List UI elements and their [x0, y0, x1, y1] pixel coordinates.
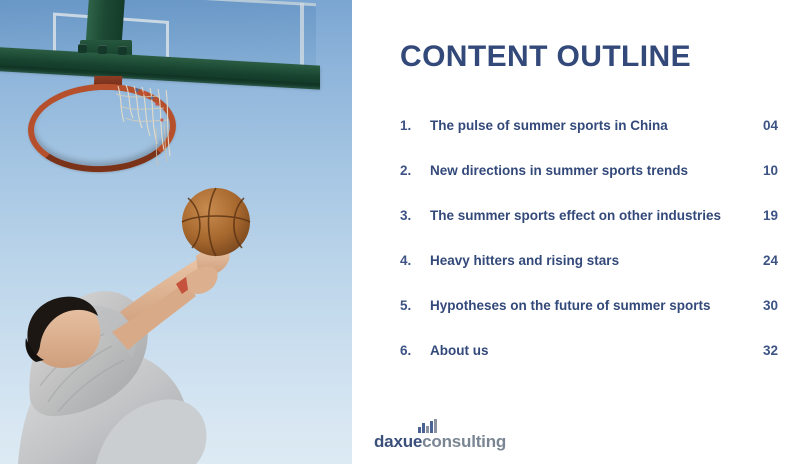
toc-item-page: 32 [748, 343, 778, 358]
toc-item[interactable]: 3. The summer sports effect on other ind… [400, 208, 778, 253]
mount-bolt [78, 44, 87, 53]
toc-item-label: The pulse of summer sports in China [430, 118, 748, 133]
toc-item-label: Heavy hitters and rising stars [430, 253, 748, 268]
bar-chart-bar [434, 419, 437, 433]
torn-net [112, 84, 184, 170]
page-title: CONTENT OUTLINE [400, 40, 691, 74]
toc-item[interactable]: 2. New directions in summer sports trend… [400, 163, 778, 208]
logo-primary-text: daxue [374, 432, 422, 452]
logo-secondary-text: consulting [422, 432, 506, 452]
content-panel: CONTENT OUTLINE 1. The pulse of summer s… [352, 0, 800, 464]
toc-item[interactable]: 6. About us 32 [400, 343, 778, 388]
toc-item-number: 5. [400, 298, 430, 313]
toc-item-page: 30 [748, 298, 778, 313]
toc-item-number: 3. [400, 208, 430, 223]
toc-item-number: 6. [400, 343, 430, 358]
basketball-player [0, 164, 290, 464]
toc-item-number: 2. [400, 163, 430, 178]
toc-item[interactable]: 1. The pulse of summer sports in China 0… [400, 118, 778, 163]
toc-item-label: New directions in summer sports trends [430, 163, 748, 178]
toc-item-page: 24 [748, 253, 778, 268]
bar-chart-bar [426, 426, 429, 433]
bar-chart-bar [422, 423, 425, 433]
bar-chart-icon [418, 419, 437, 433]
toc-item-number: 1. [400, 118, 430, 133]
mount-bolt [118, 46, 127, 55]
mount-bolt [98, 45, 107, 54]
daxue-consulting-logo[interactable]: daxue consulting [374, 432, 506, 452]
toc-item[interactable]: 5. Hypotheses on the future of summer sp… [400, 298, 778, 343]
photo-scene [0, 0, 352, 464]
bar-chart-bar [418, 427, 421, 433]
toc-item-page: 19 [748, 208, 778, 223]
slide-content-outline: CONTENT OUTLINE 1. The pulse of summer s… [0, 0, 800, 464]
toc-item-label: The summer sports effect on other indust… [430, 208, 748, 223]
toc-item-label: Hypotheses on the future of summer sport… [430, 298, 748, 313]
table-of-contents: 1. The pulse of summer sports in China 0… [400, 118, 778, 388]
logo-wordmark: daxue consulting [374, 432, 506, 452]
toc-item-label: About us [430, 343, 748, 358]
toc-item-page: 04 [748, 118, 778, 133]
basketball-player-hoop-photo [0, 0, 352, 464]
toc-item-number: 4. [400, 253, 430, 268]
toc-item-page: 10 [748, 163, 778, 178]
bar-chart-bar [430, 421, 433, 433]
toc-item[interactable]: 4. Heavy hitters and rising stars 24 [400, 253, 778, 298]
